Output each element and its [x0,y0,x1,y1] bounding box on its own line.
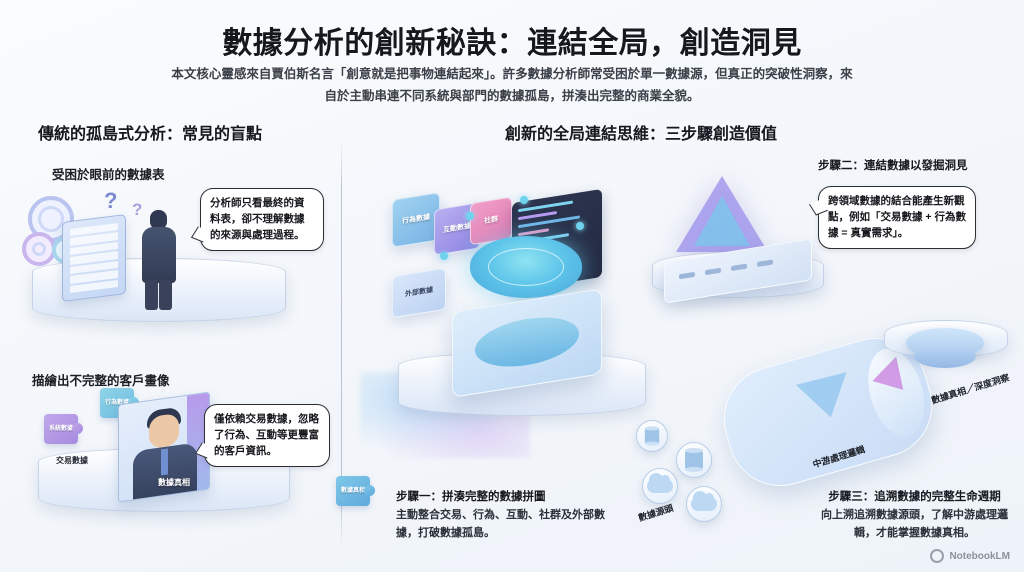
database-icon [676,442,712,478]
notebooklm-logo-icon [930,549,944,563]
callout-analyst-blindspot: 分析師只看最終的資料表，卻不理解數據的來源與處理過程。 [200,188,324,251]
callout-incomplete-profile: 僅依賴交易數據，忽略了行為、互動等更豐富的客戶資訊。 [204,404,330,467]
callout-cross-domain-insight: 跨領域數據的結合能產生新觀點，例如「交易數據 + 行為數據 = 真實需求」。 [818,186,976,249]
card-label: 外部數據 [393,269,445,317]
spreadsheet-panel [62,214,126,302]
cloud-source-icon [642,468,678,504]
label-transaction-data: 交易數據 [56,456,88,466]
question-mark-icon: ? [132,200,142,220]
step3-heading: 步驟三：追溯數據的完整生命週期 [812,488,1017,504]
card-label: 行為數據 [393,193,439,246]
tag-data-truth: 數據真相／深度洞察 [930,372,1011,406]
insight-disc-inner [914,344,976,368]
step1-body: 主動整合交易、行為、互動、社群及外部數據，打破數據孤島。 [396,507,608,542]
label-screen-side: 數據真相 [158,478,190,488]
step3-body: 向上溯追溯數據源頭，了解中游處理邏輯，才能掌握數據真相。 [812,507,1017,542]
tag-data-source: 數據源頭 [637,503,675,524]
database-icon [636,420,668,452]
left-label-data-table: 受困於眼前的數據表 [52,164,165,183]
network-node [576,222,584,230]
question-mark-icon: ? [104,188,117,214]
network-node [440,252,448,260]
step1-block: 步驟一：拼湊完整的數據拼圖 主動整合交易、行為、互動、社群及外部數據，打破數據孤… [396,488,608,542]
network-node [466,212,474,220]
left-column-heading: 傳統的孤島式分析：常見的盲點 [38,120,262,144]
data-hub-disc [470,236,582,298]
insight-pyramid-inner [694,196,750,246]
puzzle-piece-system: 系統數據 [44,414,78,444]
cloud-source-icon [686,486,722,522]
puzzle-piece-truth: 數據真相 [336,476,370,506]
infographic-page: 數據分析的創新秘訣：連結全局，創造洞見 本文核心靈感來自賈伯斯名言「創意就是把事… [0,0,1024,572]
left-label-customer-profile: 描繪出不完整的客戶畫像 [32,370,170,389]
step2-heading: 步驟二：連結數據以發掘洞見 [818,157,968,173]
gear-icon [22,232,56,266]
step1-heading: 步驟一：拼湊完整的數據拼圖 [396,488,608,504]
puzzle-label: 數據真相 [336,476,370,506]
page-subtitle: 本文核心靈感來自賈伯斯名言「創意就是把事物連結起來」。許多數據分析師常受困於單一… [170,64,854,108]
puzzle-label: 系統數據 [44,414,78,444]
watermark-label: NotebookLM [949,551,1010,562]
card-external-data: 外部數據 [392,268,446,319]
watermark: NotebookLM [930,549,1010,563]
network-node [520,196,528,204]
card-behavior-data: 行為數據 [392,192,440,248]
right-column-heading: 創新的全局連結思維：三步驟創造價值 [505,120,777,144]
step3-block: 步驟三：追溯數據的完整生命週期 向上溯追溯數據源頭，了解中游處理邏輯，才能掌握數… [812,488,1017,542]
page-title: 數據分析的創新秘訣：連結全局，創造洞見 [0,18,1024,62]
